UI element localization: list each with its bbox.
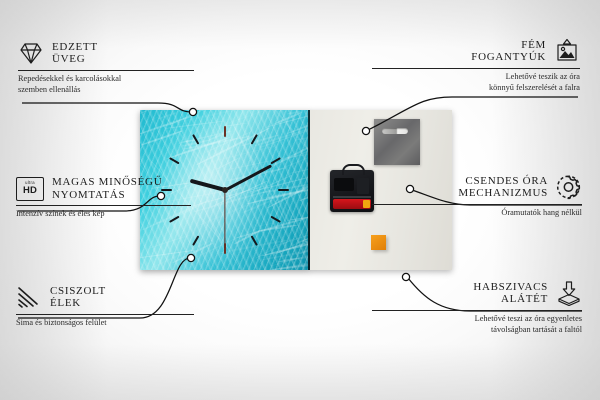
movement-recess <box>334 178 354 191</box>
feature-desc: Lehetővé teszi az óra egyenletes távolsá… <box>372 314 582 335</box>
feature-rule <box>372 204 582 205</box>
movement-divider <box>333 196 371 198</box>
feature-title: CSENDES ÓRA MECHANIZMUS <box>458 175 548 200</box>
feature-rule <box>16 205 191 206</box>
foam-pad-arrow-icon <box>556 280 582 306</box>
diamond-icon <box>18 40 44 66</box>
feature-rule <box>372 68 580 69</box>
product-infographic: EDZETT ÜVEG Repedésekkel és karcolásokka… <box>0 0 600 400</box>
feature-title: FÉM FOGANTYÚK <box>471 39 546 64</box>
movement-bail <box>342 164 365 175</box>
feature-title: CSISZOLT ÉLEK <box>50 285 106 310</box>
feature-desc: Intenzív színek és éles kép <box>16 209 226 220</box>
feature-desc: Repedésekkel és karcolásokkal szemben el… <box>18 74 228 95</box>
foam-pad <box>371 235 386 250</box>
feature-title: HABSZIVACS ALÁTÉT <box>473 281 548 306</box>
feature-header: CSENDES ÓRA MECHANIZMUS <box>372 174 582 200</box>
feature-high-quality-print: ultra HD MAGAS MINŐSÉGŰ NYOMTATÁS Intenz… <box>16 176 226 220</box>
clock-movement <box>330 170 374 212</box>
feature-header: CSISZOLT ÉLEK <box>16 284 226 310</box>
battery <box>333 199 371 209</box>
feature-title: MAGAS MINŐSÉGŰ NYOMTATÁS <box>52 176 162 201</box>
feature-desc: Lehetővé teszik az óra könnyű felszerelé… <box>372 72 580 93</box>
feature-polished-edges: CSISZOLT ÉLEK Sima és biztonságos felüle… <box>16 284 226 329</box>
feature-header: ultra HD MAGAS MINŐSÉGŰ NYOMTATÁS <box>16 176 226 201</box>
feature-rule <box>18 70 194 71</box>
feature-silent-mechanism: CSENDES ÓRA MECHANIZMUS Óramutatók hang … <box>372 174 582 219</box>
feature-header: FÉM FOGANTYÚK <box>372 38 580 64</box>
clock-tick <box>225 189 289 191</box>
feature-rule <box>16 314 194 315</box>
ultra-hd-icon: ultra HD <box>16 177 44 201</box>
feature-header: EDZETT ÜVEG <box>18 40 228 66</box>
feature-metal-handles: FÉM FOGANTYÚK Lehetővé teszik az óra kön… <box>372 38 580 93</box>
feature-tempered-glass: EDZETT ÜVEG Repedésekkel és karcolásokka… <box>18 40 228 95</box>
feature-title: EDZETT ÜVEG <box>52 41 98 66</box>
ultra-hd-large-label: HD <box>23 186 37 196</box>
metal-hanger-plate <box>374 119 420 165</box>
feature-desc: Sima és biztonságos felület <box>16 318 226 329</box>
picture-frame-hanger-icon <box>554 38 580 64</box>
feature-foam-backing: HABSZIVACS ALÁTÉT Lehetővé teszi az óra … <box>372 280 582 335</box>
feature-desc: Óramutatók hang nélkül <box>372 208 582 219</box>
polished-edges-icon <box>16 284 42 310</box>
movement-recess-secondary <box>357 178 369 194</box>
feature-header: HABSZIVACS ALÁTÉT <box>372 280 582 306</box>
hanger-keyhole-slot <box>382 128 408 134</box>
gear-icon <box>556 174 582 200</box>
feature-rule <box>372 310 582 311</box>
